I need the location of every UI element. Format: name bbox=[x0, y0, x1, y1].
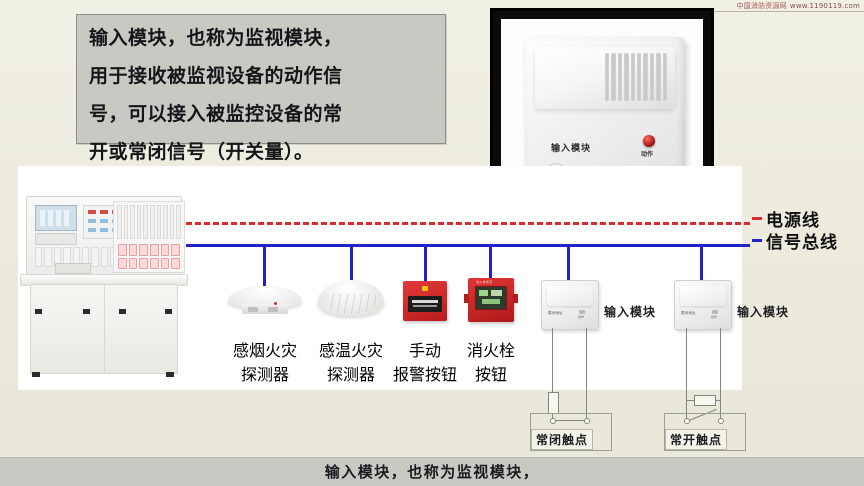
facp-display-icon bbox=[35, 205, 77, 231]
legend-signal-label: 信号总线 bbox=[766, 228, 838, 253]
signal-line-swatch bbox=[752, 239, 762, 242]
facp-subpanel bbox=[35, 233, 77, 245]
watermark: 中国消防资源网www.1190119.com bbox=[736, 1, 860, 11]
facp-feet bbox=[32, 372, 174, 377]
module-led-label: 动作 bbox=[641, 149, 653, 158]
bus-drop-smoke bbox=[263, 244, 266, 286]
bus-drop-mcp bbox=[424, 244, 427, 284]
description-box: 输入模块，也称为监视模块， 用于接收被监视设备的动作信 号，可以接入被监控设备的… bbox=[76, 14, 446, 144]
manual-call-point-icon bbox=[403, 281, 447, 321]
legend: 电源线 信号总线 bbox=[752, 207, 838, 251]
hydrant-button-caption: 消火栓 按钮 bbox=[446, 337, 536, 385]
watermark-site: 中国消防资源网 bbox=[736, 2, 786, 10]
legend-power: 电源线 bbox=[752, 207, 838, 229]
no-contact-label: 常开触点 bbox=[665, 429, 727, 450]
input-module-1-label: 输入模块 bbox=[604, 303, 656, 320]
bus-drop-heat bbox=[350, 244, 353, 284]
description-line-1: 输入模块，也称为监视模块， bbox=[77, 15, 445, 53]
facp-buttons bbox=[55, 263, 91, 274]
bus-drop-module-1 bbox=[567, 244, 570, 280]
smoke-detector-icon bbox=[228, 282, 302, 316]
legend-signal: 信号总线 bbox=[752, 229, 838, 251]
description-line-3: 号，可以接入被监控设备的常 bbox=[77, 91, 445, 129]
action-led-icon bbox=[643, 135, 655, 147]
no-eol-resistor bbox=[694, 395, 716, 406]
nc-contact-label: 常闭触点 bbox=[531, 429, 593, 450]
slide-canvas: 中国消防资源网www.1190119.com 输入模块，也称为监视模块， 用于接… bbox=[0, 0, 864, 486]
bus-drop-module-2 bbox=[700, 244, 703, 280]
module-vent-grille bbox=[605, 53, 667, 101]
no-wire-right bbox=[720, 328, 721, 420]
input-module-1: 模块地址 动作 bbox=[541, 280, 599, 330]
fire-alarm-control-panel bbox=[20, 196, 186, 378]
facp-head bbox=[26, 196, 182, 276]
power-line bbox=[186, 222, 750, 225]
signal-bus-line bbox=[186, 244, 750, 247]
bus-drop-hydrant bbox=[489, 244, 492, 282]
module-upper-housing bbox=[535, 47, 675, 109]
input-module-2: 模块地址 动作 bbox=[674, 280, 732, 330]
hydrant-button-icon: 消火栓按钮 bbox=[468, 278, 514, 322]
description-line-2: 用于接收被监视设备的动作信 bbox=[77, 53, 445, 91]
input-module-photo-body: 输入模块 动作 S bbox=[525, 37, 685, 187]
caption-text: 输入模块，也称为监视模块， bbox=[0, 458, 864, 486]
module-photo-label: 输入模块 bbox=[551, 141, 591, 154]
facp-indicator-leds bbox=[118, 244, 180, 269]
nc-wire-right bbox=[586, 328, 587, 420]
no-wire-left bbox=[686, 328, 687, 420]
input-module-2-label: 输入模块 bbox=[737, 303, 789, 320]
smoke-detector-caption: 感烟火灾 探测器 bbox=[220, 337, 310, 385]
power-line-swatch bbox=[752, 217, 762, 220]
watermark-url: www.1190119.com bbox=[790, 2, 860, 10]
description-line-4: 开或常闭信号（开关量）。 bbox=[77, 129, 445, 167]
facp-module-rack-right bbox=[113, 201, 185, 273]
facp-cabinet bbox=[30, 284, 178, 374]
nc-eol-resistor bbox=[548, 392, 559, 414]
heat-detector-icon bbox=[318, 280, 384, 318]
caption-bar: 输入模块，也称为监视模块， bbox=[0, 457, 864, 486]
